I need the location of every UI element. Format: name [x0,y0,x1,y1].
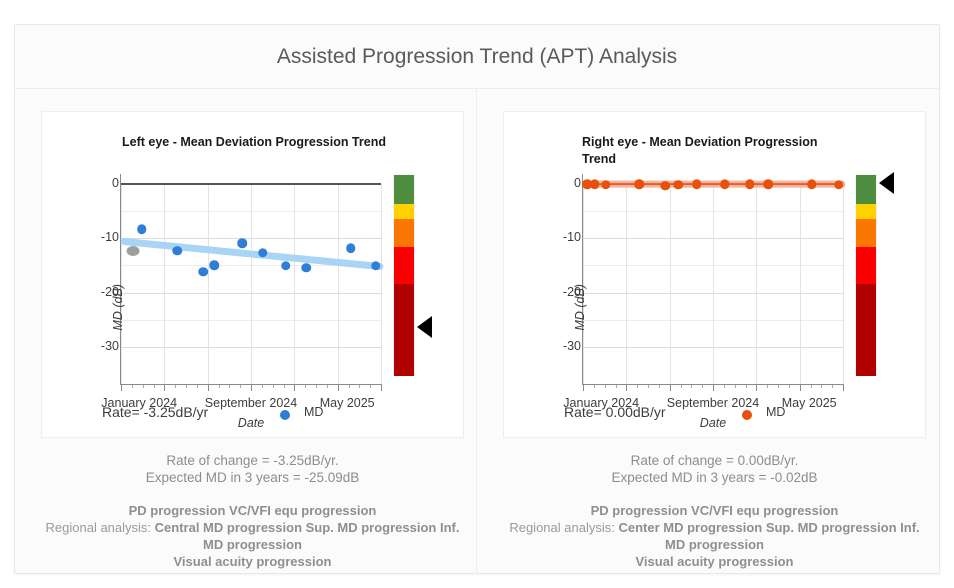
y-tick-label: -10 [79,230,119,244]
rate-of-change-left-eye: Rate of change = -3.25dB/yr. [25,452,480,469]
severity-marker-arrow-icon [417,316,432,338]
apt-analysis-card: Assisted Progression Trend (APT) Analysi… [14,24,940,574]
x-tick-major [843,384,844,391]
regional-analysis-left-eye: PD progression VC/VFI equ progression Re… [20,502,485,570]
x-tick-major [381,384,382,391]
visual-acuity-progression-right-eye[interactable]: Visual acuity progression [636,554,794,569]
regional-prefix-right-eye: Regional analysis: [509,520,615,535]
md-data-point [346,243,356,253]
gridline-vertical [843,184,844,384]
md-data-point [590,179,600,189]
colorbar-segment-yellow [856,204,876,219]
baseline-data-point [126,246,139,256]
colorbar-segment-yellow [394,204,414,219]
trend-line [121,144,381,404]
expected-md-right-eye: Expected MD in 3 years = -0.02dB [487,469,942,486]
regional-line3-left-eye[interactable]: MD progression [203,537,302,552]
colorbar-segment-red [856,247,876,284]
md-data-point [302,263,312,273]
regional-line3-right-eye[interactable]: MD progression [665,537,764,552]
app-root: Assisted Progression Trend (APT) Analysi… [0,0,954,588]
colorbar-segment-green [394,175,414,204]
md-data-point [692,179,702,189]
rate-of-change-right-eye: Rate of change = 0.00dB/yr. [487,452,942,469]
md-data-point [745,180,755,190]
legend-label-right-eye: MD [766,405,785,419]
y-tick-label: -30 [79,339,119,353]
regional-prefix-left-eye: Regional analysis: [46,520,152,535]
colorbar-segment-green [856,175,876,204]
summary-right-eye: Rate of change = 0.00dB/yr. Expected MD … [487,452,942,486]
legend-left-eye: Rate= -3.25dB/yr MD [42,404,463,428]
chart-card-left-eye: Left eye - Mean Deviation Progression Tr… [41,111,464,438]
gridline-vertical [381,184,382,384]
colorbar-segment-orange [394,219,414,248]
severity-marker-arrow-icon [879,172,894,194]
page-title: Assisted Progression Trend (APT) Analysi… [15,25,939,89]
expected-md-left-eye: Expected MD in 3 years = -25.09dB [25,469,480,486]
severity-colorbar-right-eye [855,174,877,375]
md-data-point [661,181,671,191]
regional-line2-right-eye[interactable]: Center MD progression Sup. MD progressio… [618,520,919,535]
md-data-point [137,224,147,234]
y-tick-label: 0 [79,176,119,190]
colorbar-segment-darkred [856,284,876,376]
md-data-point [764,180,774,190]
md-data-point [209,261,219,271]
legend-marker-icon-right-eye [742,410,752,420]
legend-right-eye: Rate= 0.00dB/yr MD [504,404,925,428]
colorbar-segment-darkred [394,284,414,376]
md-data-point [199,267,209,277]
pd-progression-right-eye[interactable]: PD progression VC/VFI equ progression [591,503,839,518]
colorbar-segment-red [394,247,414,284]
md-data-point [281,261,291,271]
panel-right-eye: Right eye - Mean Deviation Progression T… [477,89,939,574]
rate-label-right-eye: Rate= 0.00dB/yr [564,404,666,420]
panel-left-eye: Left eye - Mean Deviation Progression Tr… [15,89,477,574]
md-data-point [834,180,844,190]
md-data-point [720,180,730,190]
md-data-point [674,180,684,190]
colorbar-segment-orange [856,219,876,248]
plot-area-left-eye: 0-10-20-30January 2024September 2024May … [121,184,381,384]
legend-label-left-eye: MD [304,405,323,419]
regional-analysis-right-eye: PD progression VC/VFI equ progression Re… [482,502,947,570]
md-data-point [173,246,183,256]
visual-acuity-progression-left-eye[interactable]: Visual acuity progression [174,554,332,569]
pd-progression-left-eye[interactable]: PD progression VC/VFI equ progression [129,503,377,518]
md-data-point [601,180,611,190]
md-data-point [258,248,268,258]
plot-area-right-eye: 0-10-20-30January 2024September 2024May … [583,184,843,384]
rate-label-left-eye: Rate= -3.25dB/yr [102,404,208,420]
md-data-point [238,238,248,248]
trend-line [583,144,843,404]
severity-colorbar-left-eye [393,174,415,375]
md-data-point [371,261,381,271]
y-tick-label: -10 [541,230,581,244]
panels-container: Left eye - Mean Deviation Progression Tr… [15,89,939,574]
summary-left-eye: Rate of change = -3.25dB/yr. Expected MD… [25,452,480,486]
y-tick-label: -30 [541,339,581,353]
chart-card-right-eye: Right eye - Mean Deviation Progression T… [503,111,926,438]
regional-line2-left-eye[interactable]: Central MD progression Sup. MD progressi… [155,520,460,535]
legend-marker-icon-left-eye [280,410,290,420]
y-tick-label: 0 [541,176,581,190]
md-data-point [635,180,645,190]
md-data-point [807,180,817,190]
